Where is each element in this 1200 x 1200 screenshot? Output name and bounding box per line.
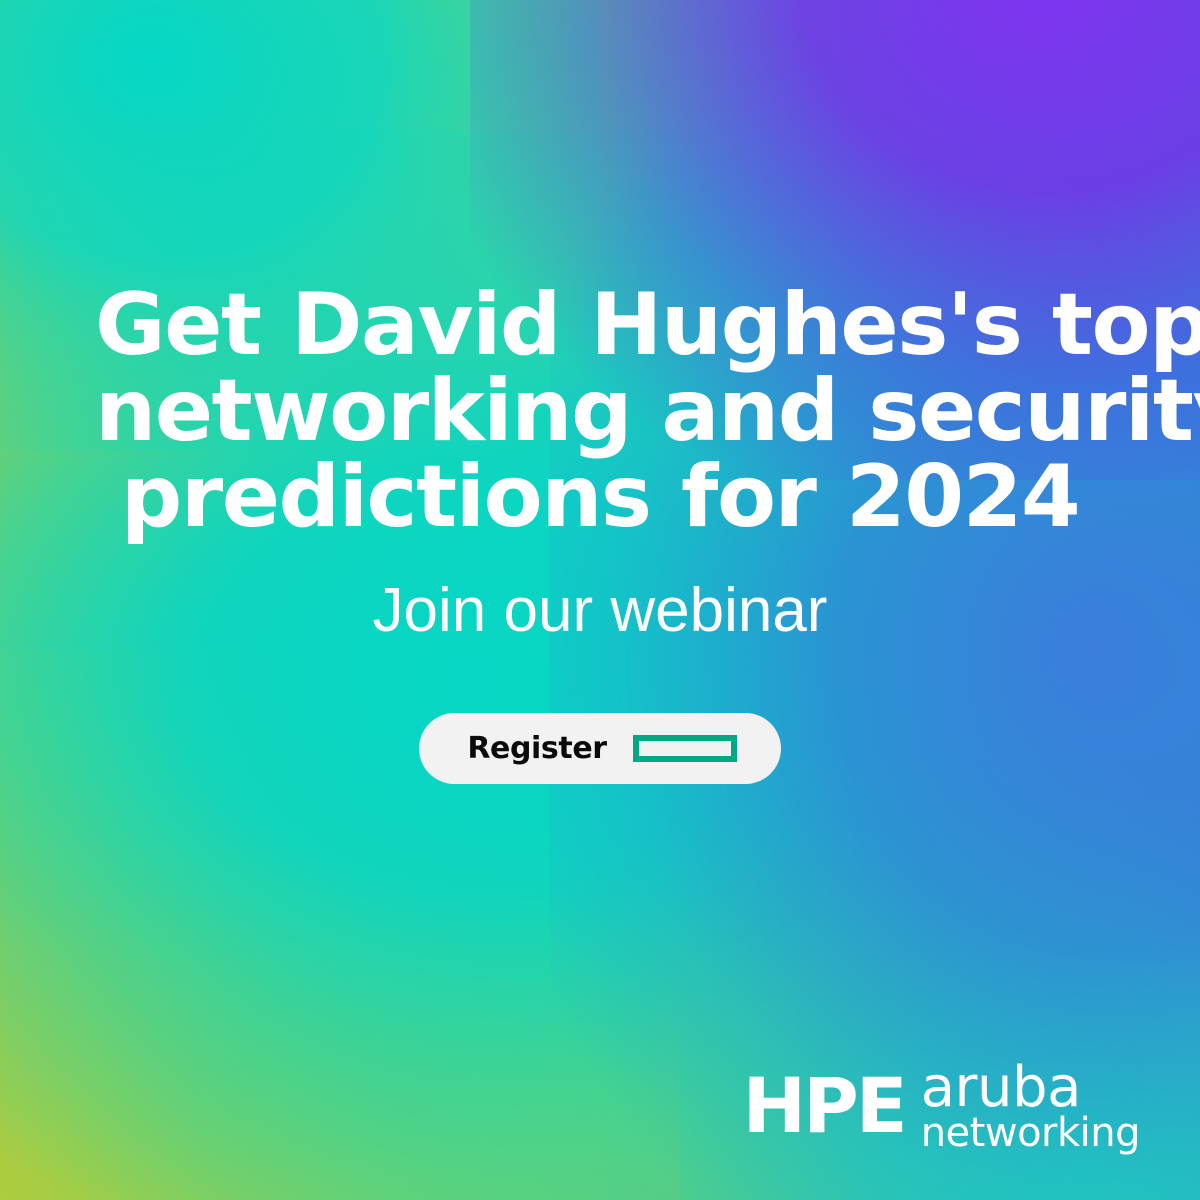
headline-line-3: predictions for 2024: [95, 454, 1105, 540]
promo-canvas: Get David Hughes's top networking and se…: [0, 0, 1200, 1200]
brand-logo-aruba-networking: aruba networking: [921, 1062, 1140, 1152]
cta-container: Register: [0, 713, 1200, 784]
brand-logo-networking-text: networking: [921, 1115, 1140, 1152]
headline-line-2: networking and security: [95, 368, 1105, 454]
brand-logo-hpe-wordmark: HPE: [742, 1075, 904, 1139]
register-button-label: Register: [467, 731, 606, 766]
page-title: Get David Hughes's top networking and se…: [95, 282, 1105, 540]
brand-logo-aruba-text: aruba: [921, 1062, 1081, 1114]
page-subtitle: Join our webinar: [0, 578, 1200, 643]
brand-logo: HPE aruba networking: [742, 1062, 1140, 1152]
promo-content: Get David Hughes's top networking and se…: [0, 0, 1200, 1200]
headline-line-1: Get David Hughes's top: [95, 282, 1105, 368]
register-button[interactable]: Register: [419, 713, 780, 784]
hpe-element-rectangle-icon: [633, 735, 737, 762]
